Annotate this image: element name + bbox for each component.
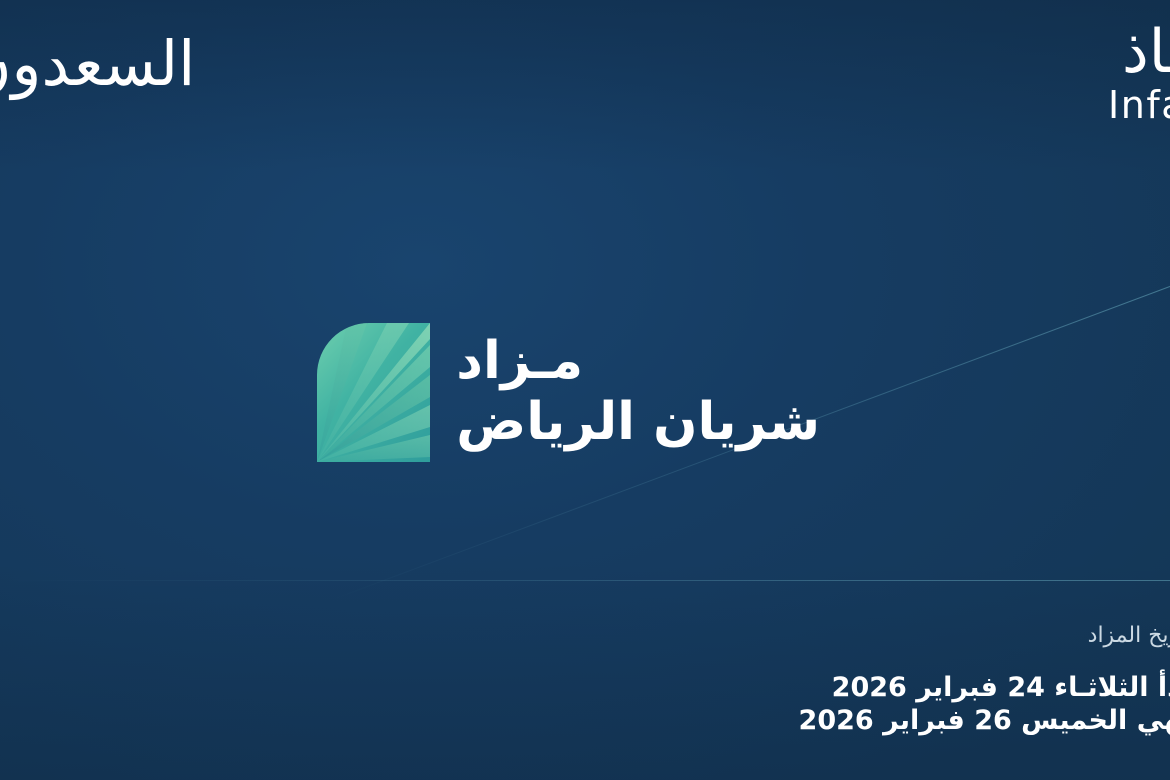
center-lockup: مـزاد شريان الرياض	[360, 312, 820, 472]
auction-date-label: تاريخ المزاد	[799, 622, 1170, 651]
infath-fan-mark-icon	[317, 323, 430, 462]
horizontal-hairline	[0, 580, 1170, 581]
headline-line-2: شريان الرياض	[456, 392, 820, 453]
auction-headline: مـزاد شريان الرياض	[456, 331, 820, 454]
auction-date-block: تاريخ المزاد ـدأ الثلاثـاء 24 فبراير 202…	[799, 622, 1170, 735]
partner-wordmark: السعدون	[0, 30, 195, 98]
headline-line-1: مـزاد	[456, 331, 820, 392]
auction-start-date: ـدأ الثلاثـاء 24 فبراير 2026	[799, 673, 1170, 702]
infath-wordmark-latin: Infath	[1108, 86, 1170, 126]
infath-logo-lockup: نفاذ Infath	[1108, 22, 1170, 126]
fan-rays-icon	[317, 323, 430, 462]
auction-end-date: تهي الخميس 26 فبراير 2026	[799, 706, 1170, 735]
auction-banner: السعدون نفاذ Infath مـزاد شريان الرياض	[0, 0, 1170, 780]
infath-wordmark-arabic: نفاذ	[1108, 22, 1170, 82]
